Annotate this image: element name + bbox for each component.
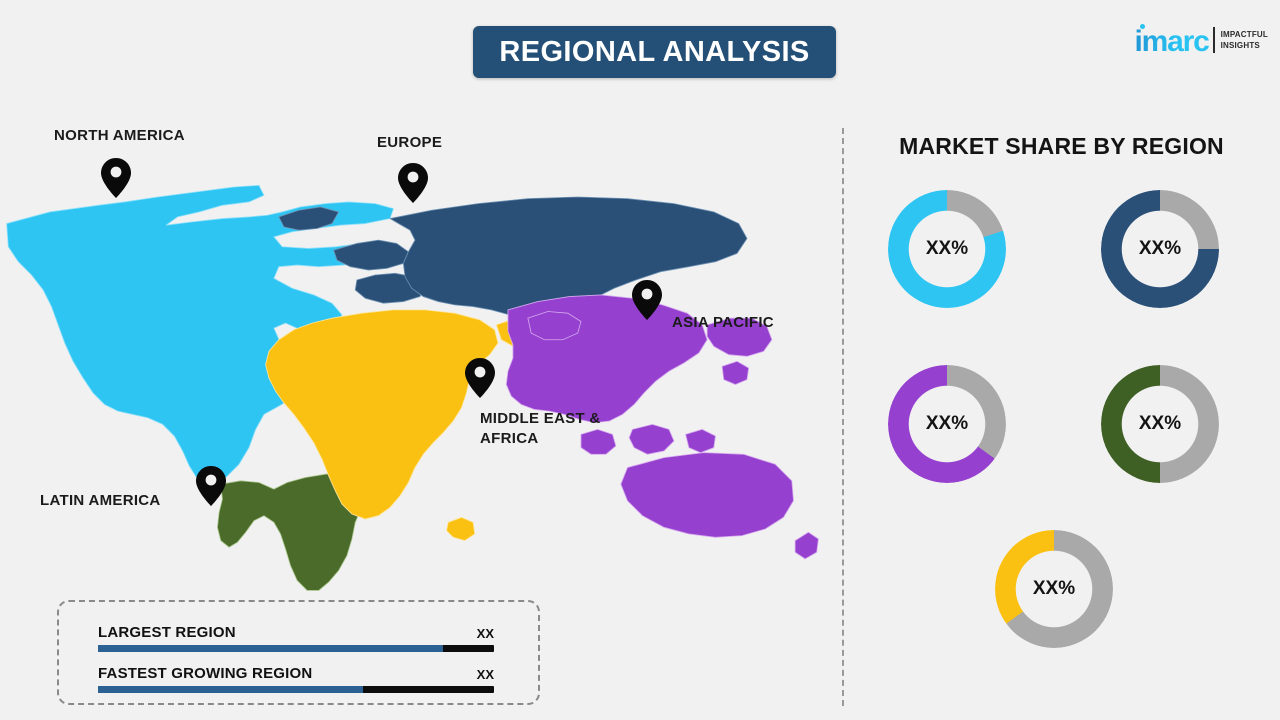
map-pin-icon — [196, 466, 226, 506]
logo-tagline-line1: IMPACTFUL — [1221, 29, 1268, 40]
donut-chart-middle-east-africa: XX% — [995, 530, 1113, 648]
donut-chart-europe: XX% — [1101, 190, 1219, 308]
donut-value: XX% — [888, 365, 1006, 483]
legend-bar-fill — [98, 645, 443, 652]
legend-value: XX — [477, 626, 494, 641]
logo-wordmark: imarc — [1135, 25, 1209, 58]
donut-value: XX% — [1101, 365, 1219, 483]
legend-label: LARGEST REGION — [98, 624, 236, 641]
map-label-latin-america: LATIN AMERICA — [40, 491, 161, 511]
legend-row-largest-region: LARGEST REGION XX — [98, 624, 494, 652]
legend-box: LARGEST REGION XX FASTEST GROWING REGION… — [57, 600, 540, 705]
donut-value: XX% — [888, 190, 1006, 308]
legend-row-fastest-growing-region: FASTEST GROWING REGION XX — [98, 665, 494, 693]
section-divider — [842, 128, 844, 706]
map-label-asia-pacific: ASIA PACIFIC — [672, 313, 774, 333]
donut-chart-asia-pacific: XX% — [888, 365, 1006, 483]
map-pin-north-america[interactable] — [101, 158, 131, 198]
map-pin-icon — [101, 158, 131, 198]
imarc-logo: imarc IMPACTFUL INSIGHTS — [1135, 18, 1268, 62]
panel-title: MARKET SHARE BY REGION — [843, 133, 1280, 160]
page-title-banner: REGIONAL ANALYSIS — [473, 26, 836, 78]
page-title: REGIONAL ANALYSIS — [499, 36, 809, 69]
donut-value: XX% — [1101, 190, 1219, 308]
map-pin-latin-america[interactable] — [196, 466, 226, 506]
logo-tagline: IMPACTFUL INSIGHTS — [1221, 29, 1268, 51]
donut-chart-north-america: XX% — [888, 190, 1006, 308]
donut-value: XX% — [995, 530, 1113, 648]
legend-bar-track — [98, 645, 494, 652]
legend-label: FASTEST GROWING REGION — [98, 665, 312, 682]
map-pin-icon — [398, 163, 428, 203]
legend-value: XX — [477, 667, 494, 682]
map-pin-middle-east-africa[interactable] — [465, 358, 495, 398]
map-label-europe: EUROPE — [377, 133, 442, 153]
legend-bar-track — [98, 686, 494, 693]
logo-divider — [1213, 27, 1215, 53]
map-label-north-america: NORTH AMERICA — [54, 126, 185, 146]
map-label-middle-east-africa: MIDDLE EAST & AFRICA — [480, 409, 601, 449]
logo-tagline-line2: INSIGHTS — [1221, 40, 1268, 51]
map-pin-icon — [632, 280, 662, 320]
map-pin-icon — [465, 358, 495, 398]
donut-chart-latin-america: XX% — [1101, 365, 1219, 483]
map-pin-asia-pacific[interactable] — [632, 280, 662, 320]
legend-bar-fill — [98, 686, 363, 693]
infographic-canvas: REGIONAL ANALYSIS imarc IMPACTFUL INSIGH… — [0, 0, 1280, 720]
map-pin-europe[interactable] — [398, 163, 428, 203]
